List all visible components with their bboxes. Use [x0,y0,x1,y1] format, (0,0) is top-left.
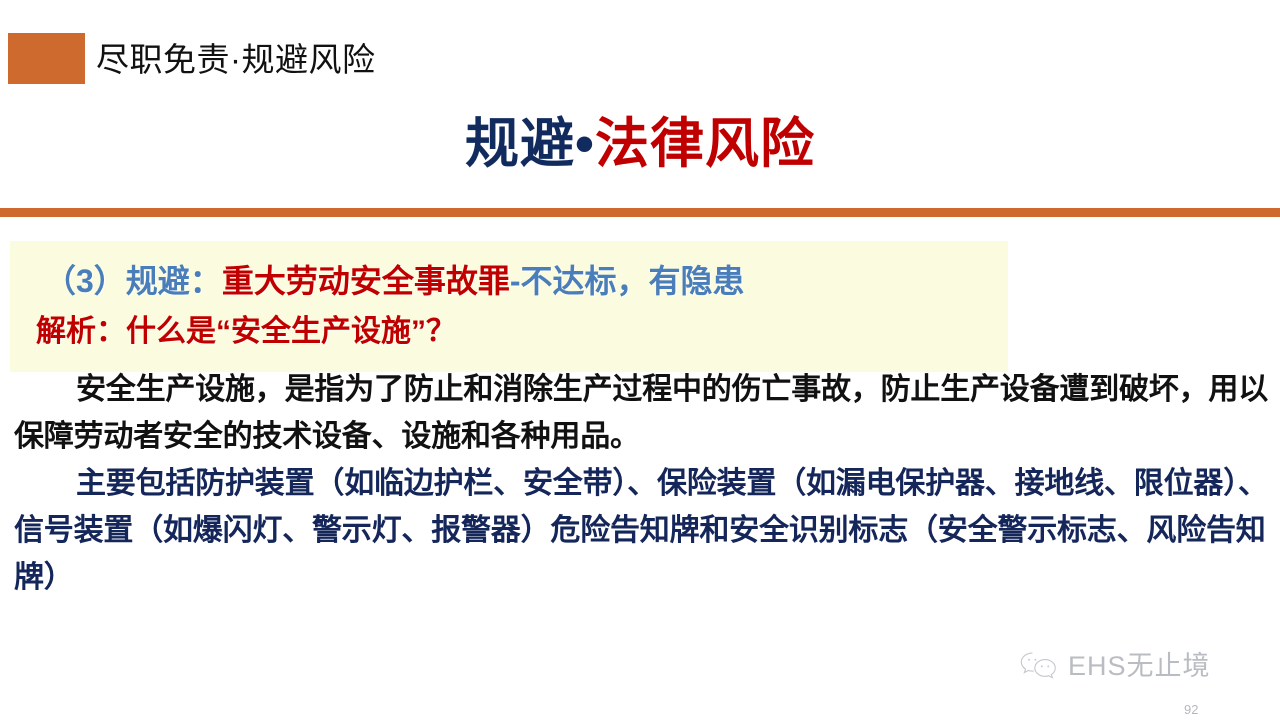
header-title: 尽职免责·规避风险 [96,38,376,82]
divider [0,208,1280,217]
body-content: 安全生产设施，是指为了防止和消除生产过程中的伤亡事故，防止生产设备遭到破坏，用以… [14,366,1268,601]
page-title-red-part: 法律风险 [595,114,815,174]
section-heading: （3）规避：重大劳动安全事故罪-不达标，有隐患 [44,259,745,303]
watermark: EHS无止境 [1018,650,1211,682]
page-number: 92 [1184,703,1198,717]
wechat-icon [1018,650,1060,682]
section-heading-crime: 重大劳动安全事故罪 [222,263,510,299]
paragraph-definition: 安全生产设施，是指为了防止和消除生产过程中的伤亡事故，防止生产设备遭到破坏，用以… [14,366,1268,460]
watermark-label: EHS无止境 [1068,651,1211,681]
page-title: 规避•法律风险 [0,108,1280,180]
header-accent-square [8,33,85,84]
slide-header: 尽职免责·规避风险 [0,0,1280,100]
page-title-blue-part: 规避 [465,114,575,174]
paragraph-includes: 主要包括防护装置（如临边护栏、安全带）、保险装置（如漏电保护器、接地线、限位器）… [14,460,1268,601]
section-heading-suffix: -不达标，有隐患 [510,263,745,299]
section-subheading: 解析：什么是“安全生产设施”？ [36,311,456,353]
section-heading-prefix: （3）规避： [44,263,222,299]
page-title-separator: • [575,114,595,174]
